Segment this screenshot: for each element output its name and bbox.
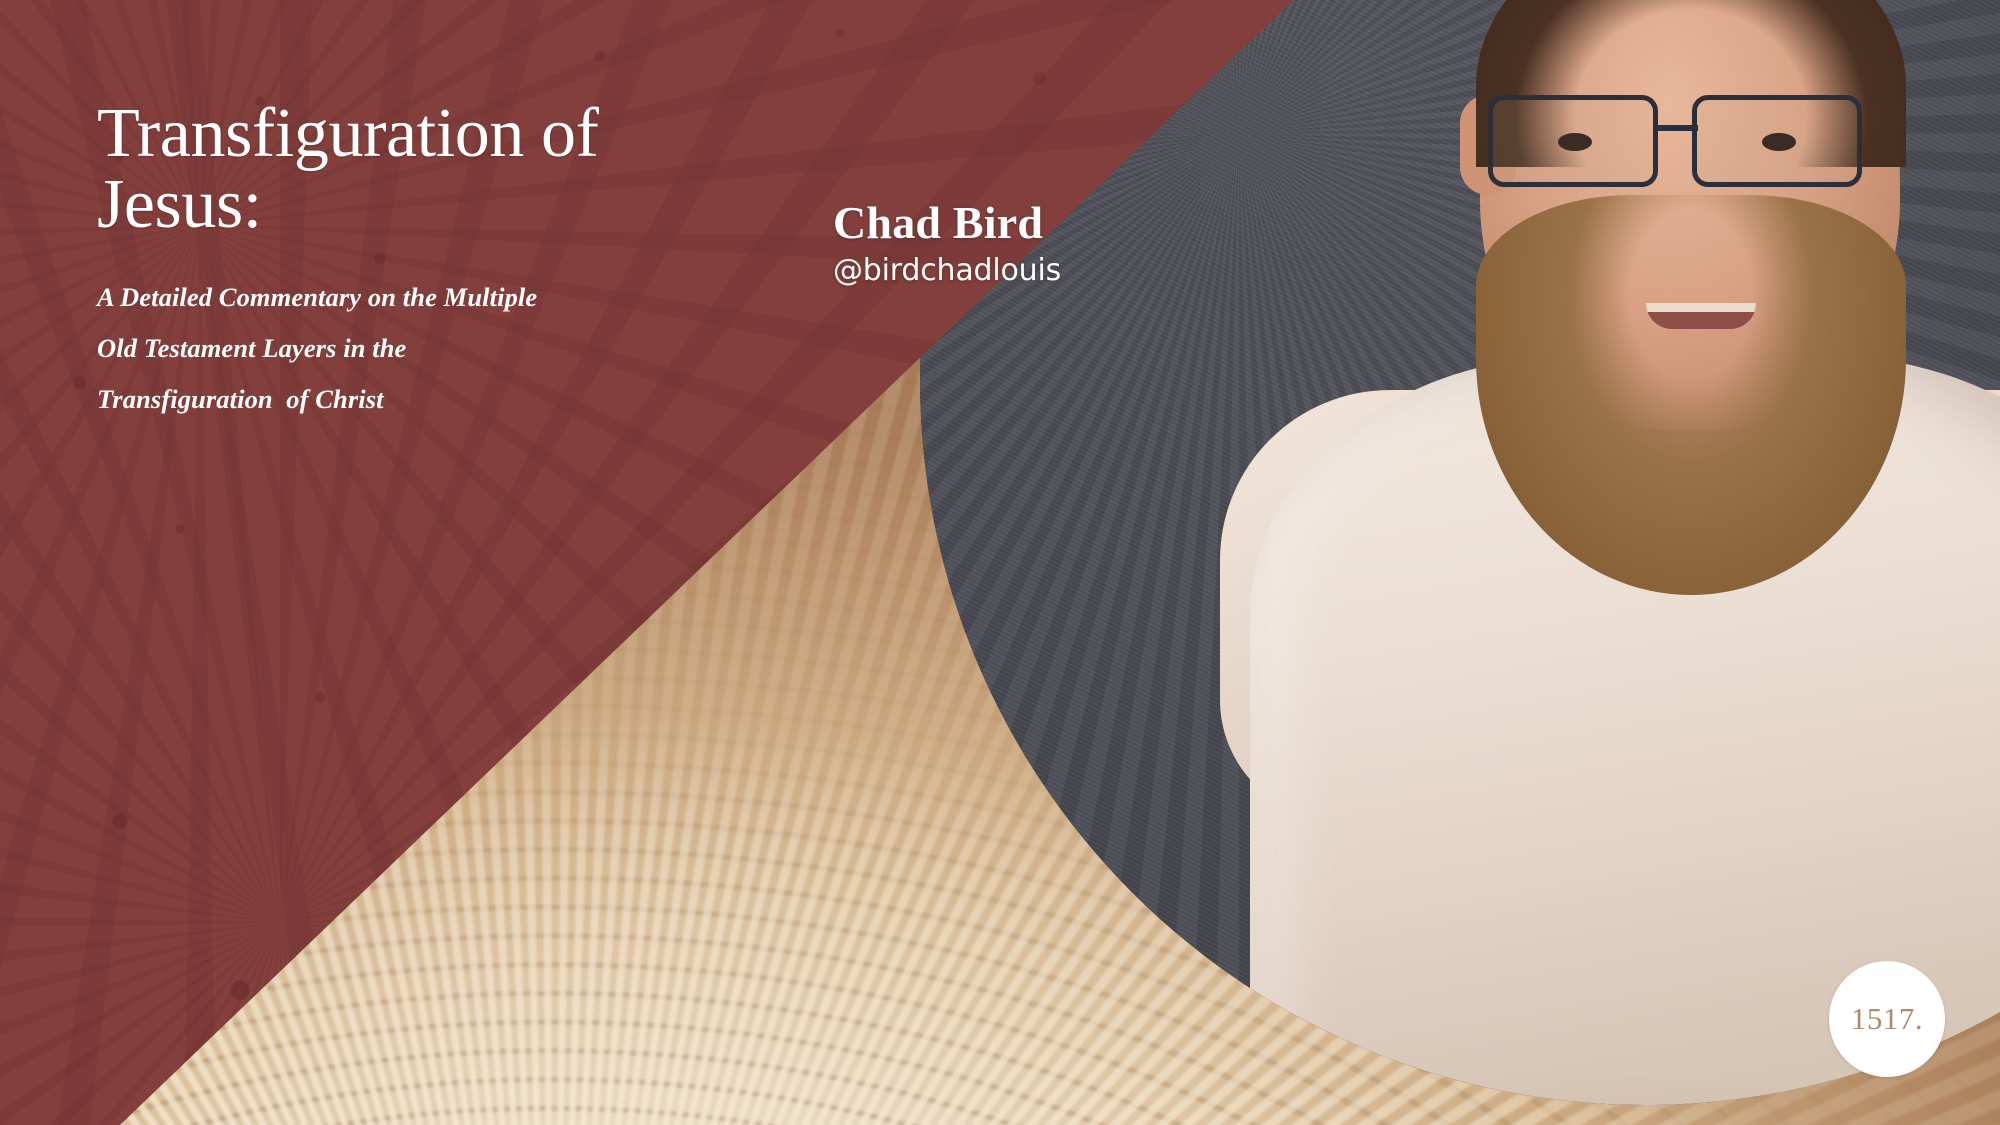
portrait-smile [1646,303,1756,329]
brand-logo-text: 1517. [1851,1003,1923,1034]
slide-title: Transfiguration of Jesus: [97,98,737,241]
slide-subtitle: A Detailed Commentary on the Multiple Ol… [97,272,667,425]
presentation-slide: Transfiguration of Jesus: A Detailed Com… [0,0,2000,1125]
speaker-social-handle: @birdchadlouis [833,253,1253,289]
brand-logo-badge: 1517. [1829,961,1945,1077]
slide-subtitle-line-1: A Detailed Commentary on the Multiple [97,272,667,323]
speaker-name: Chad Bird [833,198,1253,249]
portrait-eye-right [1762,133,1796,151]
slide-subtitle-line-3: Transfiguration of Christ [97,374,667,425]
eyeglasses-icon [1480,85,1910,195]
portrait-eye-left [1558,133,1592,151]
speaker-credit-block: Chad Bird @birdchadlouis [833,198,1253,289]
slide-subtitle-line-2: Old Testament Layers in the [97,323,667,374]
eyeglass-bridge [1656,125,1698,131]
